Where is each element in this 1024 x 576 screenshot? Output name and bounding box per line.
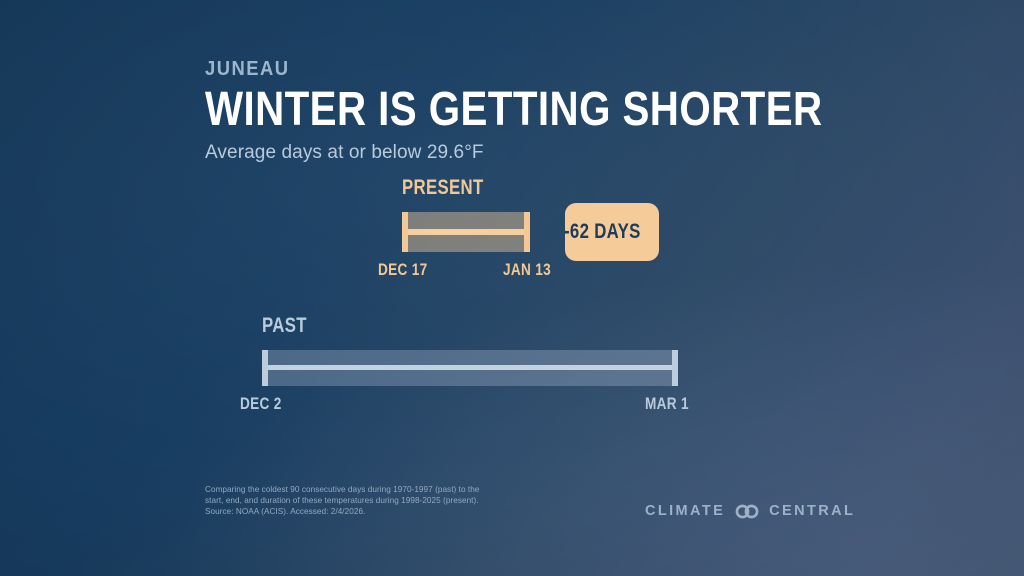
- logo-word-central: CENTRAL: [769, 503, 855, 519]
- infographic-canvas: JUNEAU WINTER IS GETTING SHORTER Average…: [0, 0, 1024, 576]
- past-start-date: DEC 2: [240, 394, 282, 414]
- present-label: PRESENT: [402, 176, 484, 200]
- change-badge-label: -62 DAYS: [564, 220, 641, 244]
- page-title: WINTER IS GETTING SHORTER: [205, 85, 823, 135]
- past-bar-start-cap: [262, 350, 268, 386]
- footnote-line-1: Comparing the coldest 90 consecutive day…: [205, 484, 479, 495]
- interlocking-rings-icon: [732, 504, 762, 519]
- present-bar-centerline: [402, 229, 530, 235]
- header-block: JUNEAU WINTER IS GETTING SHORTER Average…: [205, 58, 940, 164]
- footnote: Comparing the coldest 90 consecutive day…: [205, 484, 479, 518]
- past-bar-centerline: [262, 365, 678, 370]
- subtitle: Average days at or below 29.6°F: [205, 142, 940, 164]
- past-bar: [262, 350, 678, 386]
- past-end-date: MAR 1: [645, 394, 689, 414]
- logo-word-climate: CLIMATE: [645, 503, 725, 519]
- footnote-line-2: start, end, and duration of these temper…: [205, 495, 479, 506]
- present-end-date: JAN 13: [503, 260, 551, 280]
- present-bar-group: PRESENT DEC 17 JAN 13: [402, 176, 504, 200]
- present-bar: [402, 212, 530, 252]
- past-bar-end-cap: [672, 350, 678, 386]
- climate-central-logo: CLIMATE CENTRAL: [645, 503, 855, 519]
- present-bar-start-cap: [402, 212, 408, 252]
- past-bar-group: PAST DEC 2 MAR 1: [262, 314, 318, 338]
- footnote-line-3: Source: NOAA (ACIS). Accessed: 2/4/2026.: [205, 506, 479, 517]
- past-label: PAST: [262, 314, 307, 338]
- location-kicker: JUNEAU: [205, 58, 881, 81]
- change-badge: -62 DAYS: [565, 203, 659, 261]
- present-start-date: DEC 17: [378, 260, 428, 280]
- present-bar-end-cap: [524, 212, 530, 252]
